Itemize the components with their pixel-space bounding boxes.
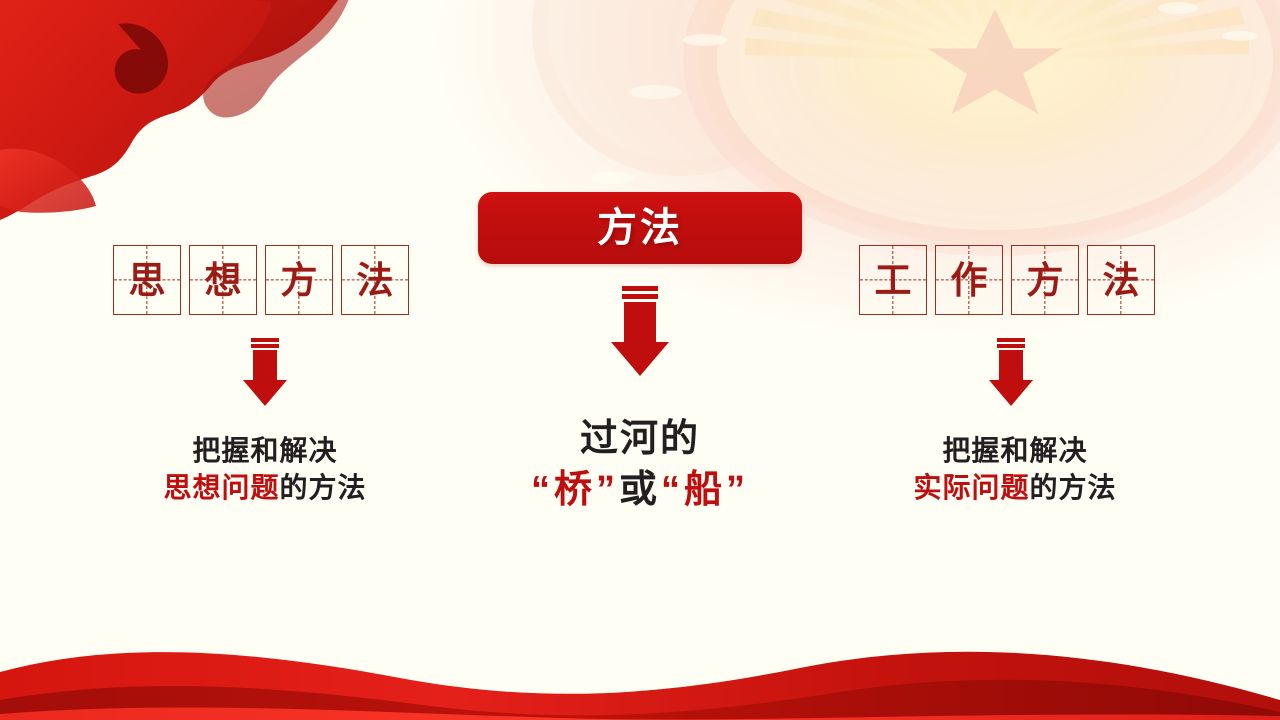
character-glyph: 方: [266, 246, 332, 314]
caption-left-line1: 把握和解决: [90, 432, 440, 469]
method-button-label: 方法: [597, 208, 683, 248]
caption-left-emphasis: 思想问题: [163, 472, 279, 503]
character-cell: 方: [1011, 245, 1079, 315]
character-cell: 法: [1087, 245, 1155, 315]
caption-center-conjunction: 或: [619, 469, 661, 511]
caption-center: 过河的 “桥”或“船”: [470, 414, 810, 515]
slide-content: 思 想 方 法 工: [0, 0, 1280, 720]
caption-center-emphasis-2: “船”: [661, 469, 749, 511]
character-grid-left: 思 想 方 法: [113, 245, 409, 315]
character-glyph: 思: [114, 246, 180, 314]
caption-right-emphasis: 实际问题: [913, 472, 1029, 503]
character-glyph: 方: [1012, 246, 1078, 314]
caption-left-line2: 思想问题的方法: [90, 469, 440, 506]
down-arrow-center: [611, 286, 669, 376]
character-glyph: 法: [1088, 246, 1154, 314]
character-cell: 想: [189, 245, 257, 315]
caption-right-line2: 实际问题的方法: [840, 469, 1190, 506]
character-cell: 方: [265, 245, 333, 315]
character-cell: 思: [113, 245, 181, 315]
character-glyph: 法: [342, 246, 408, 314]
caption-left-tail: 的方法: [280, 472, 367, 503]
caption-right: 把握和解决 实际问题的方法: [840, 432, 1190, 506]
caption-left: 把握和解决 思想问题的方法: [90, 432, 440, 506]
character-cell: 法: [341, 245, 409, 315]
caption-center-emphasis-1: “桥”: [531, 469, 619, 511]
character-cell: 工: [859, 245, 927, 315]
character-glyph: 想: [190, 246, 256, 314]
caption-right-line1: 把握和解决: [840, 432, 1190, 469]
method-button[interactable]: 方法: [478, 192, 802, 264]
caption-right-tail: 的方法: [1030, 472, 1117, 503]
down-arrow-right: [989, 338, 1033, 406]
character-cell: 作: [935, 245, 1003, 315]
down-arrow-left: [243, 338, 287, 406]
character-grid-right: 工 作 方 法: [859, 245, 1155, 315]
caption-center-line2: “桥”或“船”: [470, 465, 810, 516]
slide-canvas: 思 想 方 法 工: [0, 0, 1280, 720]
character-glyph: 工: [860, 246, 926, 314]
character-glyph: 作: [936, 246, 1002, 314]
caption-center-line1: 过河的: [470, 414, 810, 465]
